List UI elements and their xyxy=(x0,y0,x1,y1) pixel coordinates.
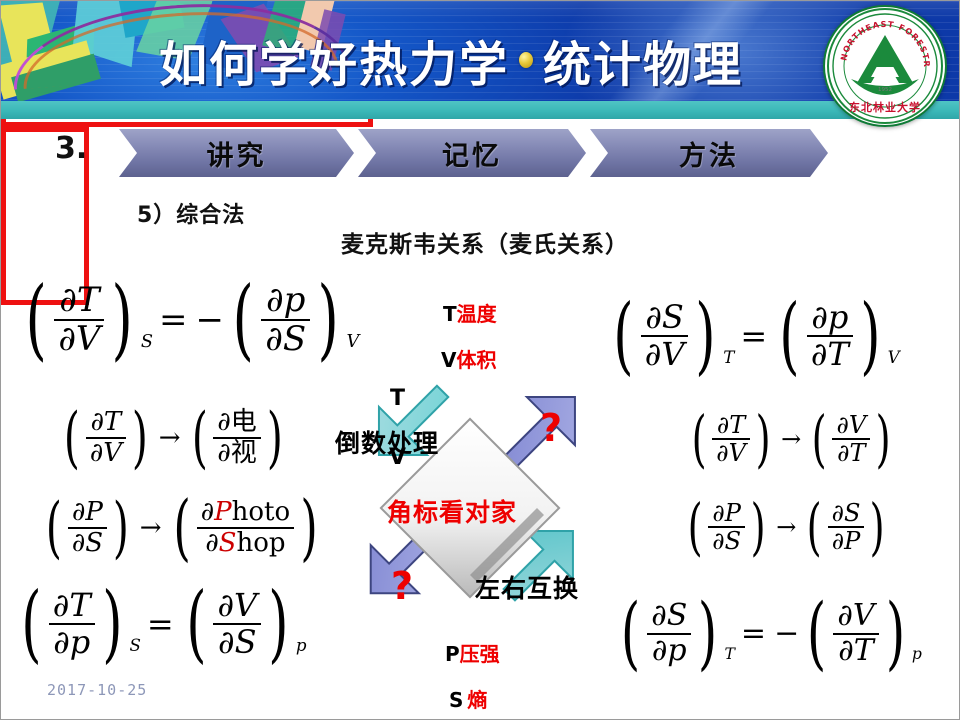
meaning-entropy: 熵 xyxy=(467,688,491,712)
maxwell-relations-heading: 麦克斯韦关系（麦氏关系） xyxy=(341,225,629,259)
svg-text:1952: 1952 xyxy=(878,87,892,93)
annotation-swap-sides: 左右互换 xyxy=(475,569,579,605)
symbol-V: V xyxy=(441,348,456,372)
step-button-label: 讲究 xyxy=(207,134,267,173)
header-banner: 如何学好热力学 统计物理 xyxy=(1,1,960,101)
diagram-label-pressure: P压强 xyxy=(445,638,500,667)
step-button-label: 方法 xyxy=(679,134,739,173)
formula-right-2: ( ∂T∂V ) → ( ∂V∂T ) xyxy=(687,413,895,466)
formula-right-1: ( ∂S∂V )T = ( ∂p∂T )V xyxy=(607,301,900,372)
meaning-pressure: 压强 xyxy=(460,642,500,666)
question-mark-lower-left: ? xyxy=(391,564,413,608)
subsection-label: 5）综合法 xyxy=(137,197,245,229)
date-watermark: 2017-10-25 xyxy=(47,681,147,699)
diagram-label-entropy: S熵 xyxy=(449,684,491,713)
university-seal-logo: NORTHEAST FORESTRY UNIVERSITY 1952 东北林业大… xyxy=(823,5,947,127)
formula-left-2: ( ∂T∂V ) → ( ∂电 ∂视 ) xyxy=(59,409,288,467)
step-button-fangfa[interactable]: 方法 xyxy=(590,129,828,177)
section-number: 3. xyxy=(55,131,87,166)
formula-right-4: ( ∂S∂p )T =− ( ∂V∂T )p xyxy=(615,601,922,668)
meaning-volume: 体积 xyxy=(456,348,496,372)
teal-divider-band xyxy=(1,101,960,119)
page-title: 如何学好热力学 统计物理 xyxy=(111,27,791,93)
symbol-T: T xyxy=(443,302,457,326)
formula-left-3: ( ∂P∂S ) → ( ∂Photo ∂Shop ) xyxy=(41,499,323,557)
annotation-subscript-opposite: 角标看对家 xyxy=(387,493,517,529)
step-button-label: 记忆 xyxy=(442,134,502,173)
gold-dot-icon xyxy=(519,52,533,68)
diagram-inner-symbol-T: T xyxy=(390,386,405,411)
page-title-right: 统计物理 xyxy=(543,25,743,95)
page-title-left: 如何学好热力学 xyxy=(159,25,509,95)
formula-left-1: ( ∂T∂V )S =− ( ∂p∂S )V xyxy=(19,283,359,358)
meaning-temperature: 温度 xyxy=(457,302,497,326)
step-button-jiangjiu[interactable]: 讲究 xyxy=(119,129,354,177)
formula-left-4: ( ∂T∂p )S = ( ∂V∂S )p xyxy=(15,589,307,660)
annotation-reciprocal: 倒数处理 xyxy=(335,424,439,460)
question-mark-upper-right: ? xyxy=(540,406,562,450)
step-button-jiyi[interactable]: 记忆 xyxy=(358,129,586,177)
slide-canvas: 如何学好热力学 统计物理 NORTHEAST FORESTRY UNIVERSI… xyxy=(0,0,960,720)
diagram-label-temperature: T温度 xyxy=(443,298,497,327)
seal-graphic: NORTHEAST FORESTRY UNIVERSITY 1952 东北林业大… xyxy=(825,7,945,125)
symbol-P: P xyxy=(445,642,460,666)
svg-text:东北林业大学: 东北林业大学 xyxy=(849,100,921,114)
formula-right-3: ( ∂P∂S ) → ( ∂S∂P ) xyxy=(683,501,890,554)
symbol-S: S xyxy=(449,688,467,712)
diagram-label-volume: V体积 xyxy=(441,344,496,373)
